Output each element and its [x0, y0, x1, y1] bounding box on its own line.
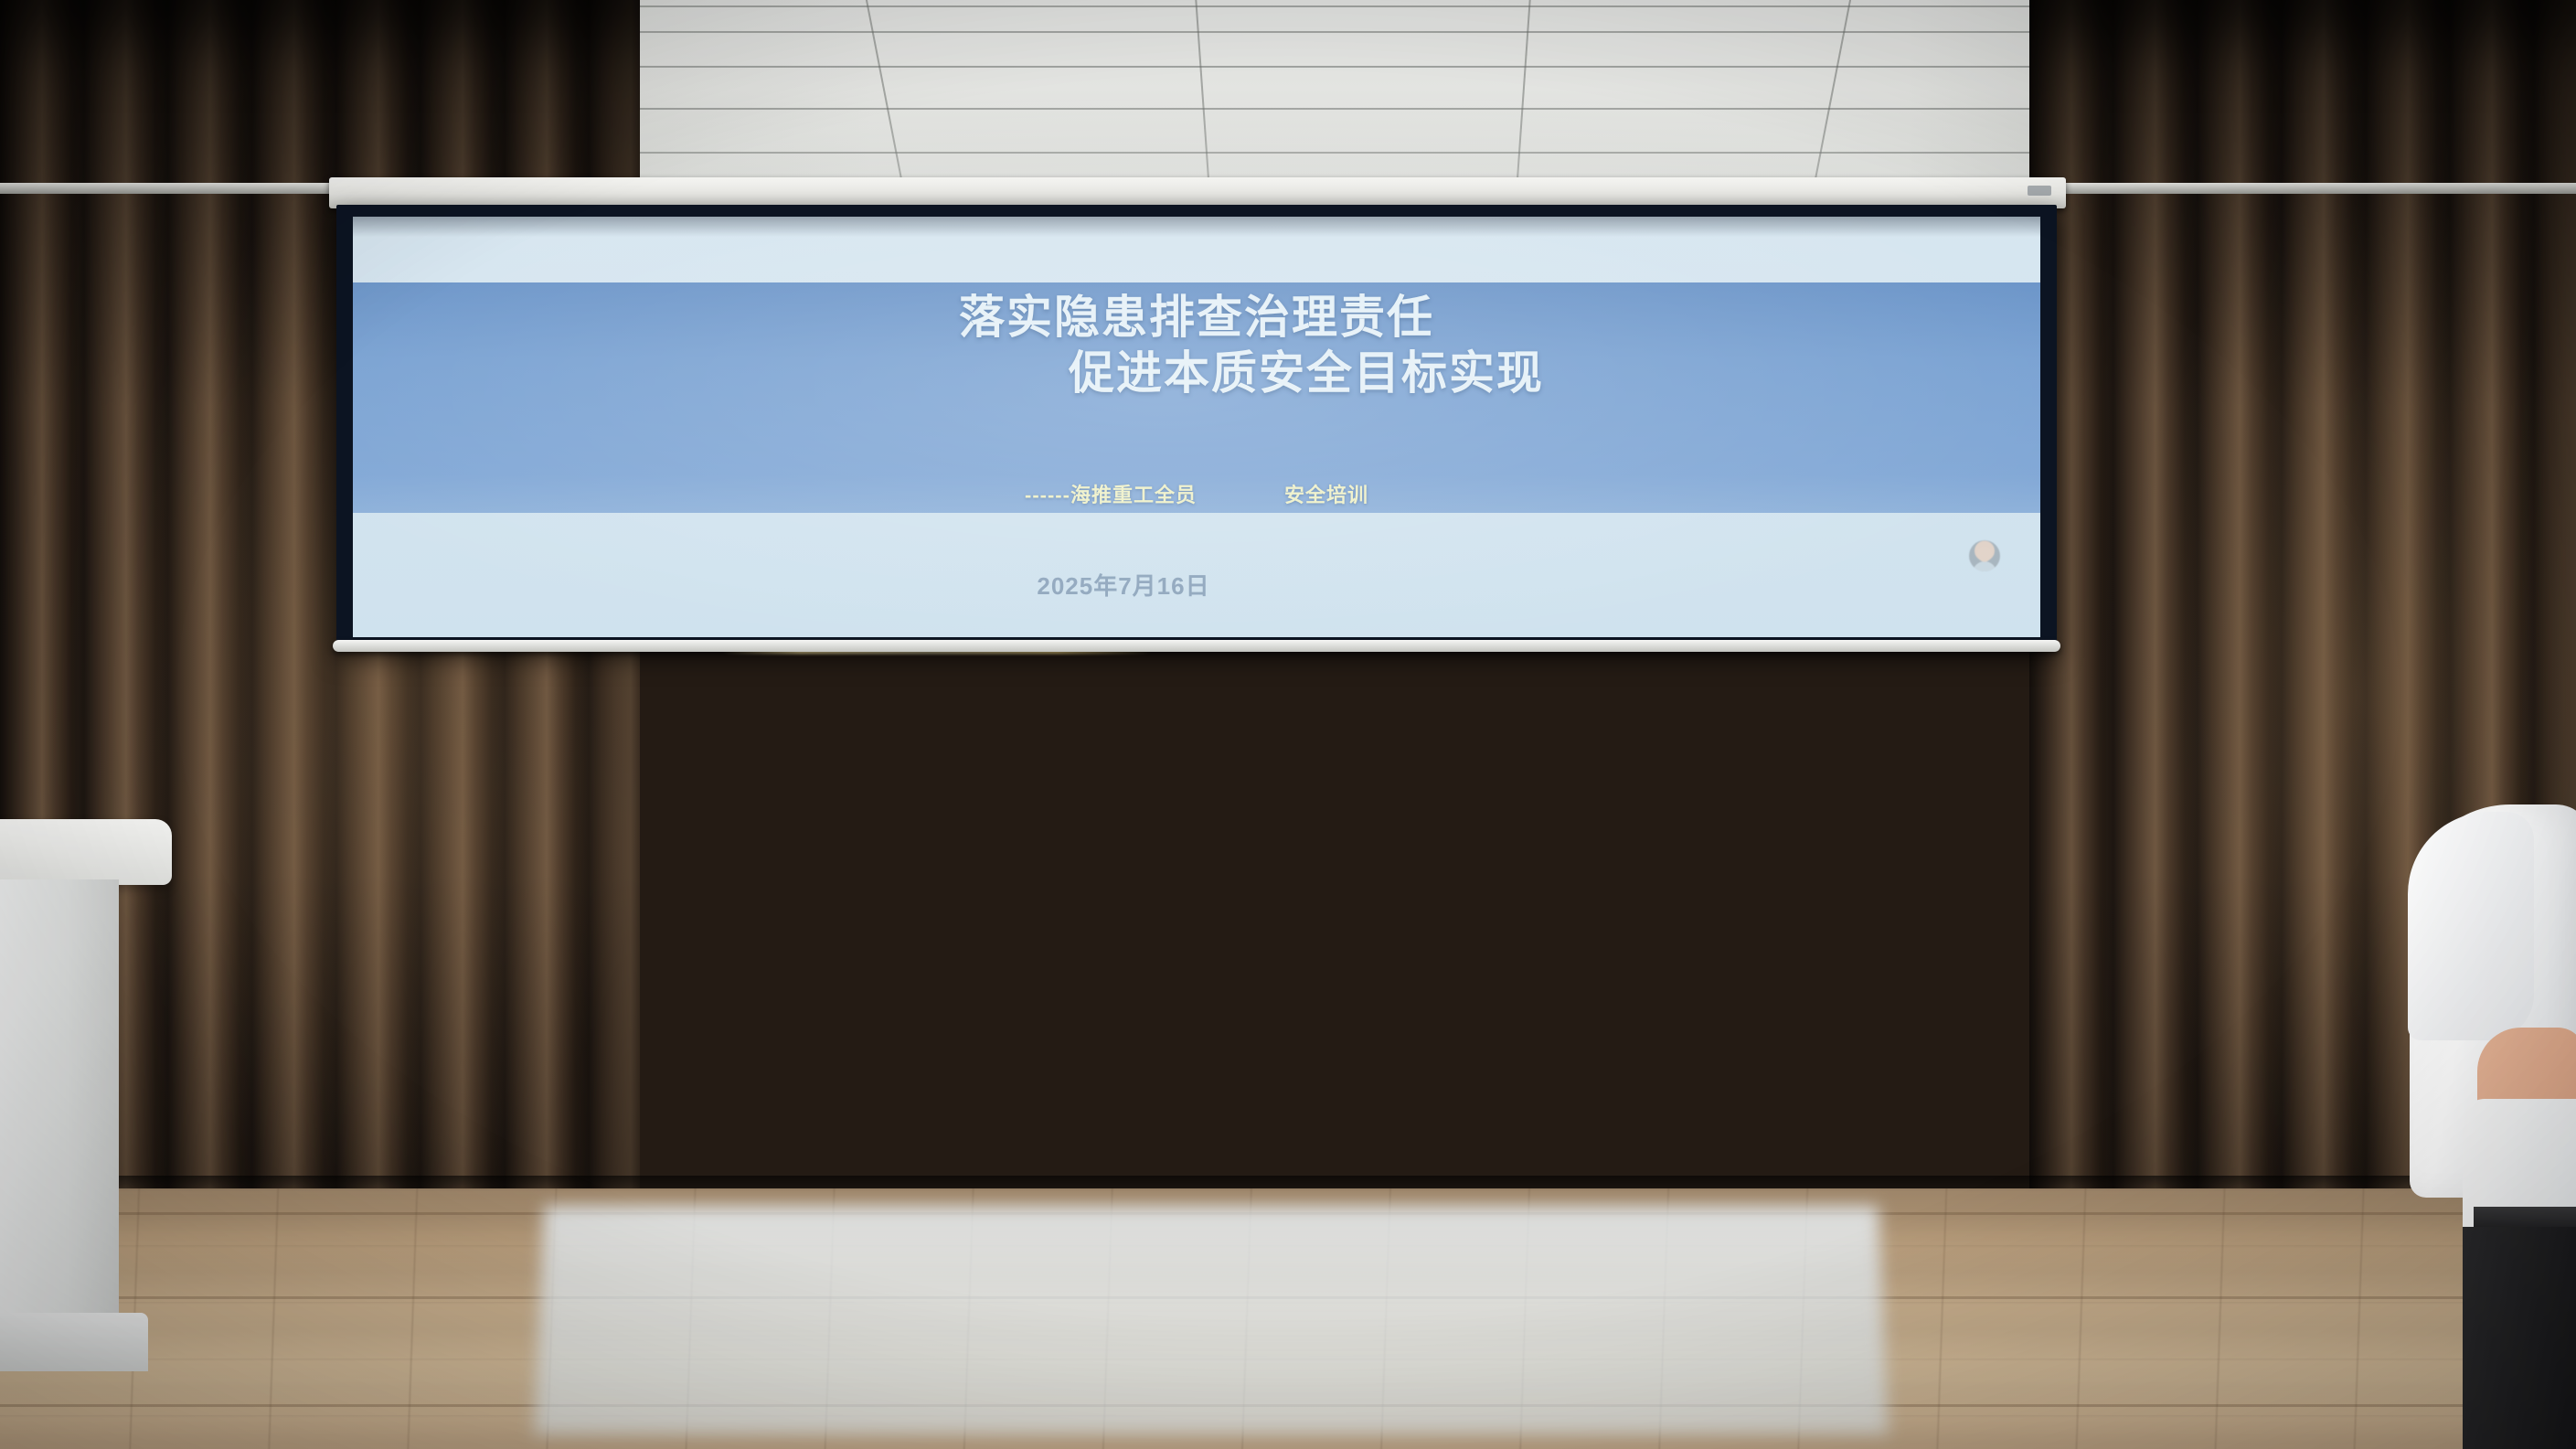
- lectern-column: [0, 879, 119, 1318]
- screen-roller-housing[interactable]: [329, 177, 2066, 208]
- slide-title-block: 落实隐患排查治理责任 促进本质安全目标实现: [353, 282, 2040, 474]
- presentation-slide: 落实隐患排查治理责任 促进本质安全目标实现 ------海推重工全员 安全培训 …: [353, 217, 2040, 637]
- projector-light-pool-on-floor: [535, 1206, 1889, 1434]
- slide-subtitle-right: 安全培训: [1284, 479, 1368, 508]
- slide-subtitle-left: ------海推重工全员: [1025, 479, 1197, 508]
- lectern-base: [0, 1313, 148, 1371]
- slide-subtitle-row: ------海推重工全员 安全培训: [353, 474, 2040, 513]
- screen-top-shadow: [353, 217, 2040, 237]
- projector-screen[interactable]: 落实隐患排查治理责任 促进本质安全目标实现 ------海推重工全员 安全培训 …: [336, 205, 2057, 649]
- screen-weight-bar[interactable]: [333, 640, 2060, 652]
- conference-room-photo: 落实隐患排查治理责任 促进本质安全目标实现 ------海推重工全员 安全培训 …: [0, 0, 2576, 1449]
- slide-title-line-2: 促进本质安全目标实现: [353, 346, 2040, 401]
- lectern-top-surface: [0, 819, 172, 885]
- standing-attendee: [2375, 804, 2576, 1449]
- avatar-body-shape: [1973, 561, 1996, 571]
- housing-end-cap-icon: [2028, 186, 2051, 196]
- avatar-face-shape: [1977, 546, 1992, 561]
- slide-title-line-1: 落实隐患排查治理责任: [353, 290, 2040, 346]
- presenter-avatar: [1969, 540, 2000, 571]
- attendee-sleeve: [2408, 812, 2534, 1040]
- attendee-trousers: [2463, 1227, 2576, 1449]
- white-lectern[interactable]: [0, 819, 178, 1422]
- slide-date: 2025年7月16日: [353, 568, 2040, 602]
